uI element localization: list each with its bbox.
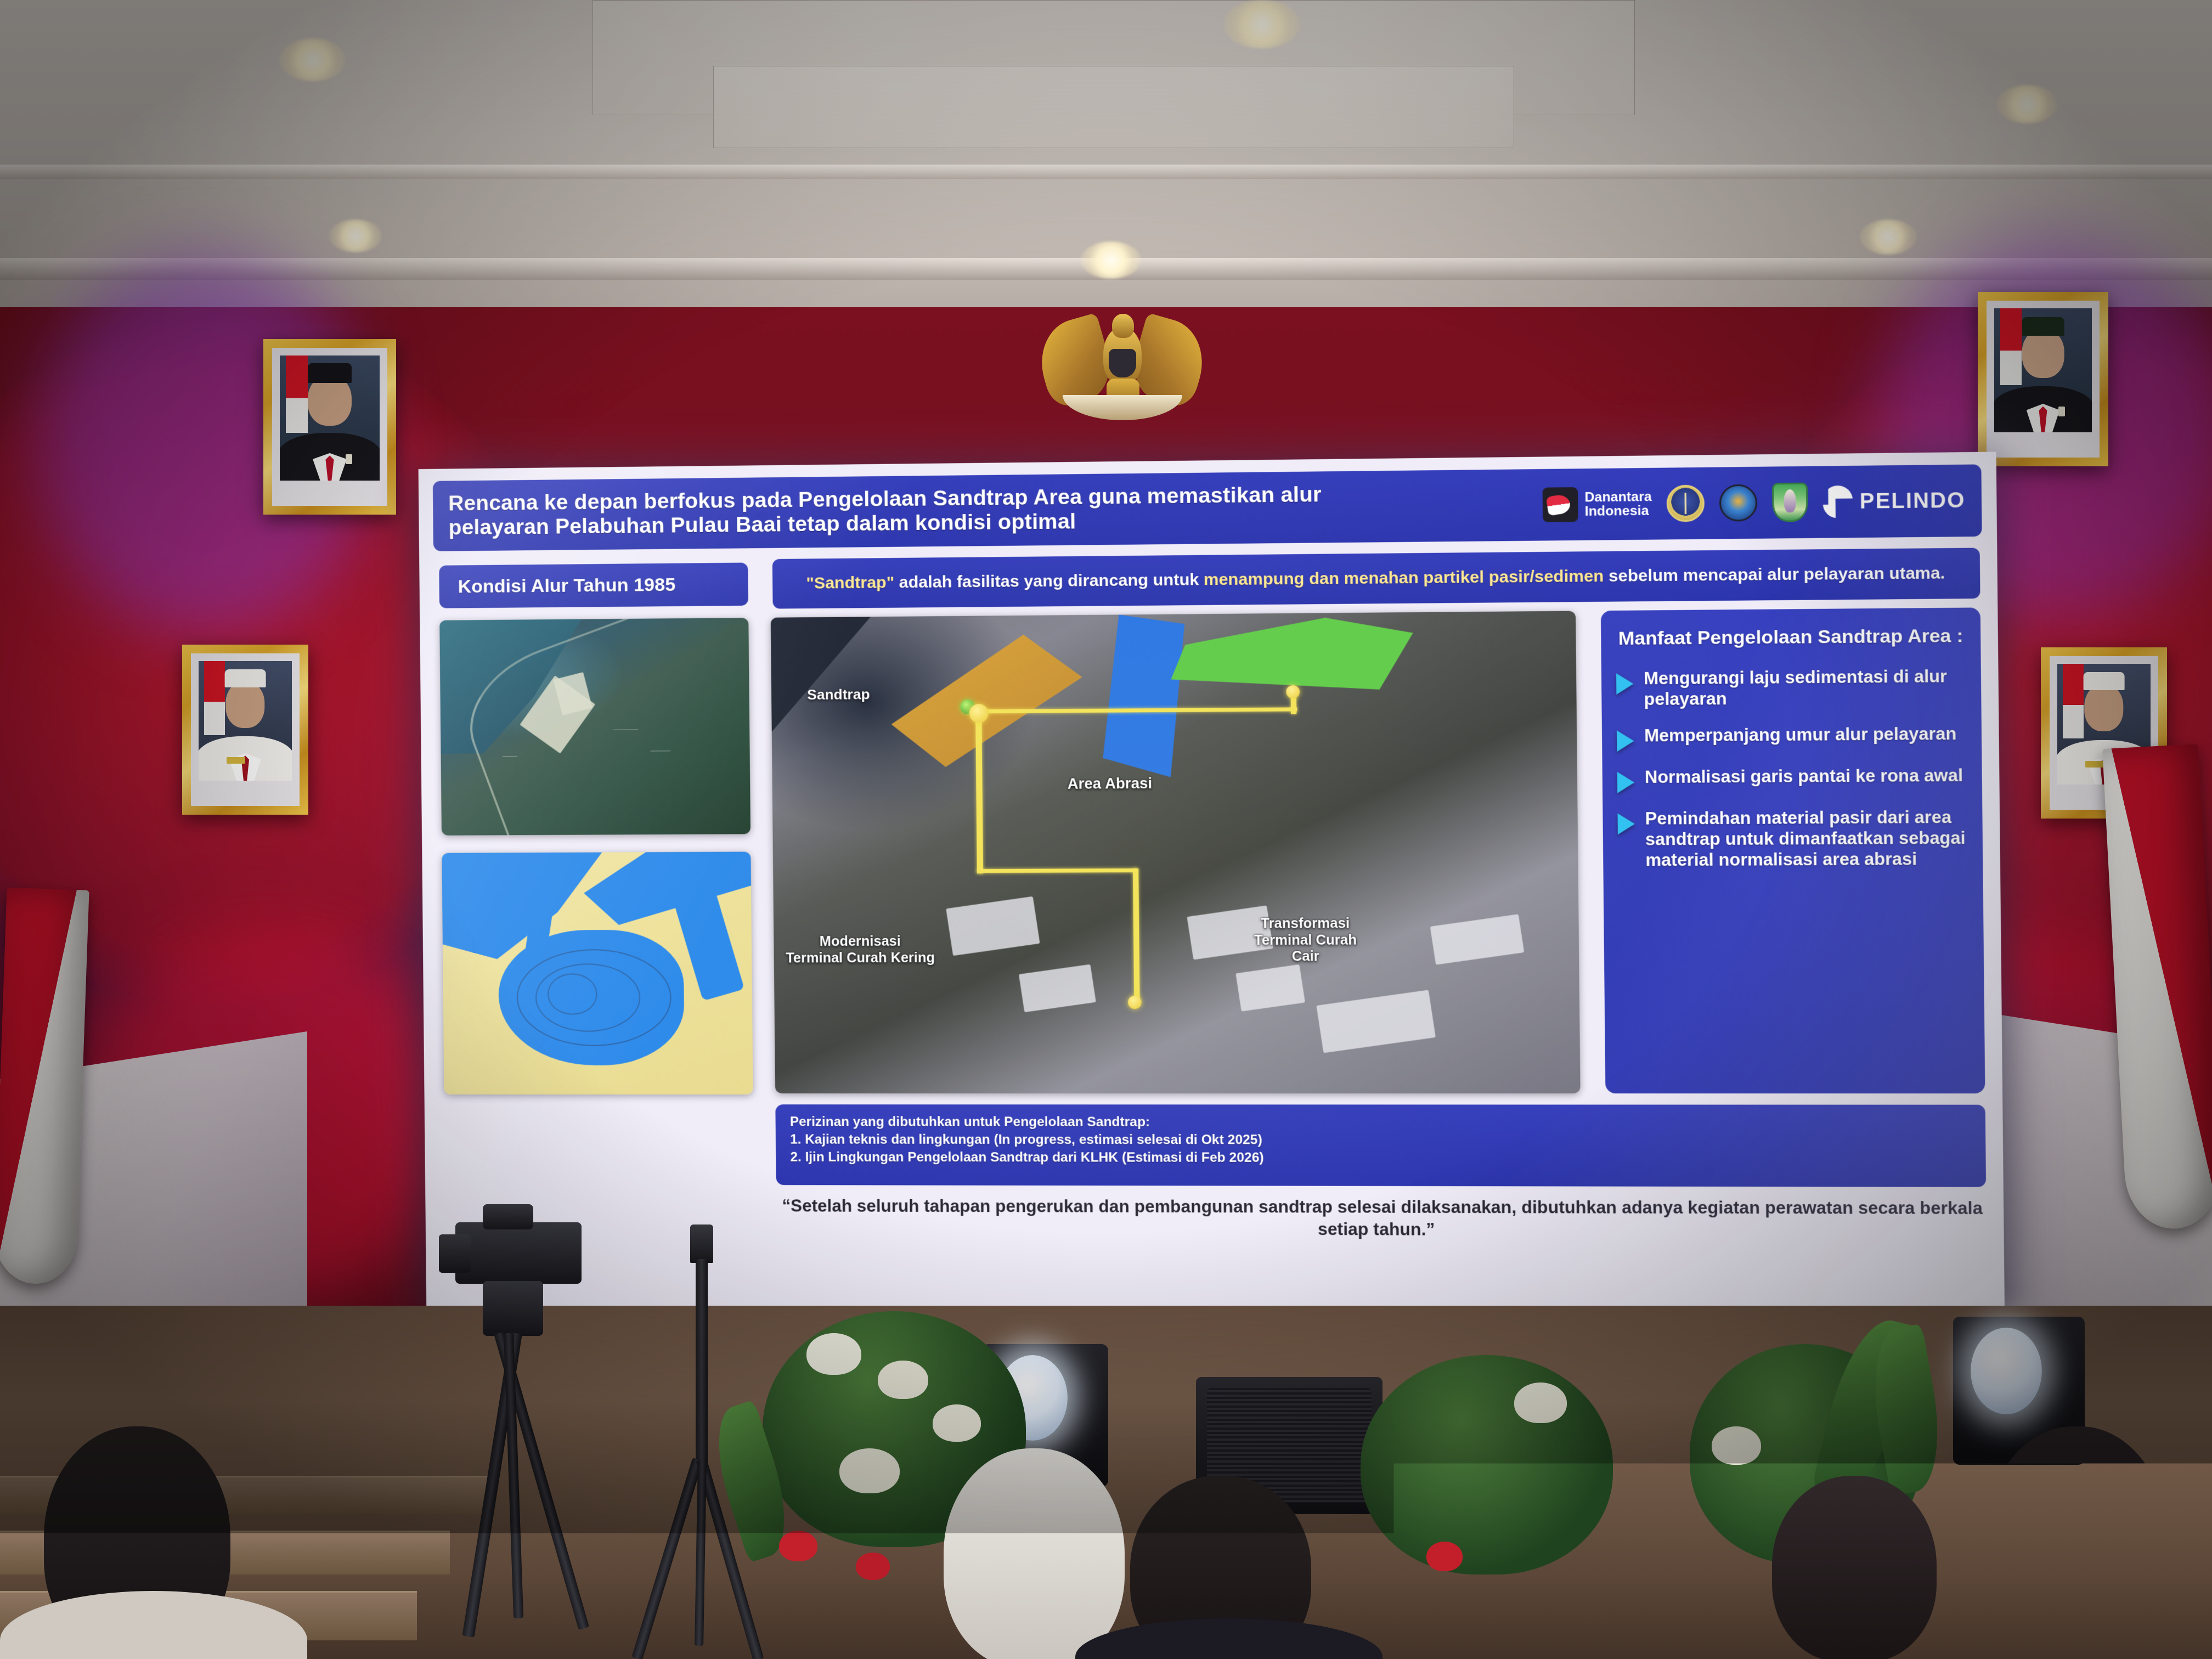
ceiling-downlight	[1081, 241, 1141, 279]
mic-stand-top	[690, 1224, 713, 1263]
benefit-text: Normalisasi garis pantai ke rona awal	[1645, 765, 1963, 788]
terminal-building	[1317, 990, 1436, 1053]
white-flower	[878, 1361, 928, 1399]
map-label-transformasi: Transformasi Terminal Curah Cair	[1254, 916, 1357, 965]
benefits-card: Manfaat Pengelolaan Sandtrap Area : Meng…	[1601, 607, 1985, 1093]
benefit-item: Mengurangi laju sedimentasi di alur pela…	[1616, 667, 1966, 710]
ceiling-downlight	[329, 219, 382, 252]
dark-sea-region	[771, 617, 907, 732]
video-camera	[455, 1222, 582, 1284]
audience-head	[1772, 1476, 1937, 1659]
pemda-bengkulu-logo	[1772, 483, 1808, 522]
triangle-bullet-icon	[1616, 673, 1634, 695]
white-flower	[933, 1404, 981, 1442]
perizinan-item-2: 2. Ijin Lingkungan Pengelolaan Sandtrap …	[790, 1149, 1971, 1168]
triangle-bullet-icon	[1617, 730, 1634, 752]
mic-stand-pole	[696, 1259, 708, 1479]
red-flower	[856, 1553, 890, 1580]
sandtrap-area-map: Sandtrap Area Abrasi Modernisasi Termina…	[771, 611, 1581, 1094]
white-flower	[1712, 1426, 1761, 1465]
camera-viewfinder	[483, 1204, 533, 1229]
danantara-line2: Indonesia	[1585, 504, 1652, 518]
perhubungan-laut-logo	[1667, 485, 1705, 522]
route-node-marker	[1128, 996, 1142, 1009]
indonesia-flag-left	[0, 888, 89, 1285]
ceiling-coffer	[713, 66, 1514, 148]
benefit-item: Normalisasi garis pantai ke rona awal	[1617, 765, 1967, 793]
danantara-wordmark: Danantara Indonesia	[1584, 489, 1652, 518]
green-zone-polygon	[1170, 617, 1413, 691]
garuda-pancasila-emblem	[1045, 313, 1199, 428]
stage-plant	[1361, 1355, 1613, 1575]
red-flower	[1426, 1542, 1463, 1571]
benefit-text: Memperpanjang umur alur pelayaran	[1644, 724, 1956, 746]
conference-room: Rencana ke depan berfokus pada Pengelola…	[0, 0, 2212, 1659]
definition-term: "Sandtrap"	[806, 573, 894, 592]
map-minor-label: ———	[503, 753, 517, 759]
terminal-building	[946, 896, 1040, 956]
bathymetry-map-photo	[442, 851, 753, 1094]
red-flower	[779, 1531, 817, 1561]
danantara-mark-icon	[1542, 487, 1578, 522]
triangle-bullet-icon	[1618, 813, 1635, 834]
map-label-sandtrap: Sandtrap	[807, 686, 870, 703]
slide-header-title: Rencana ke depan berfokus pada Pengelola…	[448, 482, 1363, 540]
satellite-photo-1985: ————— ———— ———	[439, 618, 751, 836]
ceiling-downlight	[1860, 219, 1917, 255]
benefit-item: Pemindahan material pasir dari area sand…	[1617, 807, 1968, 871]
triangle-bullet-icon	[1617, 772, 1635, 793]
route-node-marker	[969, 704, 988, 724]
benefits-title: Manfaat Pengelolaan Sandtrap Area :	[1616, 624, 1966, 650]
sandtrap-polygon	[882, 634, 1092, 779]
terminal-building	[1236, 964, 1306, 1012]
portrait-vice-president	[1978, 292, 2108, 466]
haul-route	[977, 868, 1137, 873]
ceiling-downlight	[1223, 0, 1300, 48]
dredge-channel-polygon	[1090, 614, 1188, 777]
contour-line	[548, 973, 597, 1014]
pelindo-logo: PELINDO	[1822, 484, 1965, 518]
perizinan-item-1: 1. Kajian teknis dan lingkungan (In prog…	[790, 1131, 1971, 1150]
white-flower	[1514, 1383, 1567, 1423]
definition-text-a: adalah fasilitas yang dirancang untuk	[894, 571, 1204, 591]
pelindo-mark-icon	[1822, 486, 1853, 518]
pelindo-wordmark: PELINDO	[1860, 488, 1966, 513]
definition-text-b: sebelum mencapai alur pelayaran utama.	[1604, 564, 1945, 585]
route-node-marker	[1286, 685, 1300, 699]
ceiling-downlight	[280, 38, 346, 81]
map-minor-label: —————	[613, 726, 638, 732]
terminal-building	[1430, 914, 1524, 964]
tripod-head	[483, 1281, 543, 1336]
slide-header-bar: Rencana ke depan berfokus pada Pengelola…	[433, 464, 1982, 551]
kementerian-perhubungan-logo	[1719, 484, 1758, 522]
portrait-official-left	[182, 645, 308, 815]
slide-header-logos: Danantara Indonesia PELINDO	[1542, 481, 1966, 524]
definition-highlight: menampung dan menahan partikel pasir/sed…	[1204, 567, 1604, 589]
camera-lens-hood	[439, 1234, 471, 1273]
map-label-area-abrasi: Area Abrasi	[1068, 775, 1152, 793]
water-body	[584, 851, 753, 925]
white-flower	[839, 1448, 900, 1493]
sandtrap-definition-banner: "Sandtrap" adalah fasilitas yang diranca…	[772, 548, 1980, 609]
haul-route	[1132, 868, 1139, 1002]
portrait-president	[263, 339, 396, 515]
audience-head-hijab	[944, 1448, 1125, 1659]
benefit-item: Memperpanjang umur alur pelayaran	[1617, 724, 1967, 752]
presentation-slide: Rencana ke depan berfokus pada Pengelola…	[419, 452, 2005, 1323]
benefit-text: Mengurangi laju sedimentasi di alur pela…	[1644, 667, 1966, 710]
spotlight-lens	[1971, 1328, 2042, 1414]
terminal-building	[1019, 964, 1096, 1012]
map-label-modernisasi: Modernisasi Terminal Curah Kering	[786, 934, 935, 967]
projection-screen: Rencana ke depan berfokus pada Pengelola…	[419, 452, 2005, 1323]
danantara-line1: Danantara	[1584, 489, 1652, 504]
closing-quote: “Setelah seluruh tahapan pengerukan dan …	[773, 1195, 1993, 1242]
map-minor-label: ————	[651, 748, 670, 753]
perizinan-block: Perizinan yang dibutuhkan untuk Pengelol…	[775, 1104, 1986, 1187]
perizinan-heading: Perizinan yang dibutuhkan untuk Pengelol…	[790, 1113, 1971, 1132]
ceiling-downlight	[1997, 85, 2057, 123]
kondisi-alur-pill: Kondisi Alur Tahun 1985	[439, 563, 748, 608]
benefit-text: Pemindahan material pasir dari area sand…	[1645, 807, 1968, 871]
danantara-indonesia-logo: Danantara Indonesia	[1542, 487, 1652, 522]
white-flower	[806, 1333, 861, 1375]
ceiling-edge-trim	[0, 165, 2212, 179]
